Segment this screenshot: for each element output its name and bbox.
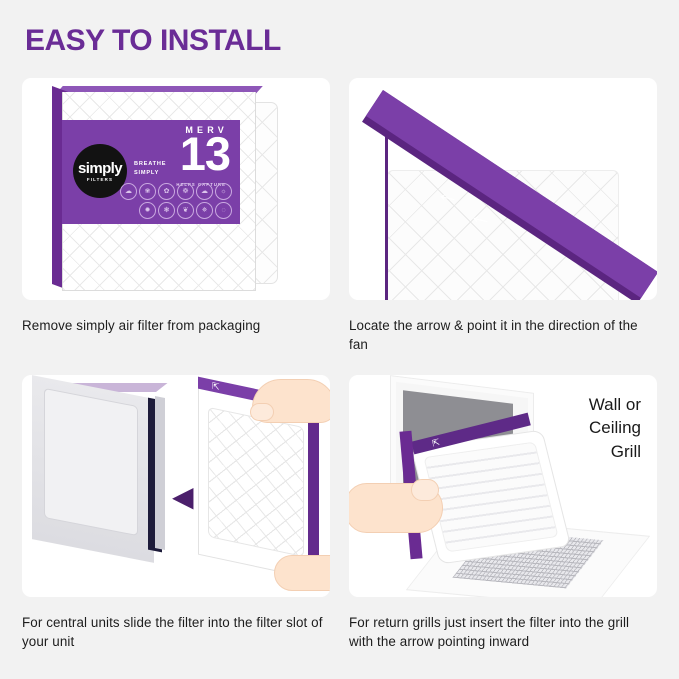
product-box-scene: simply FILTERS BREATHE SIMPLY MERV 13 HE…: [22, 78, 330, 300]
filter-mesh-texture: [208, 407, 304, 557]
pollen-icon: ❀: [139, 183, 156, 200]
unit-right-edge: [155, 396, 165, 550]
wall-ceiling-grill-label: Wall or Ceiling Grill: [589, 393, 641, 463]
central-unit-scene: ◀ ⇱: [22, 375, 330, 597]
step-card-1: simply FILTERS BREATHE SIMPLY MERV 13 HE…: [22, 78, 330, 335]
step-2-illustration: ↑ ↑: [349, 78, 657, 300]
slide-direction-arrow: ◀: [172, 483, 194, 511]
note-line-1: Wall or: [589, 393, 641, 416]
band-airflow-arrow-icon: ⇱: [212, 381, 219, 393]
return-grill-scene: ⇱ Wall or Ceiling Grill: [349, 375, 657, 597]
arrow-direction-scene: ↑ ↑: [349, 78, 657, 300]
thumb: [411, 479, 439, 501]
thumb-upper: [250, 403, 274, 421]
capture-icon-grid: ☁ ❀ ✿ ☸ ☁ ☼ ✹ ❃ ❦ ✵ ◌: [120, 181, 232, 219]
bacteria-icon: ☸: [177, 183, 194, 200]
note-line-3: Grill: [589, 440, 641, 463]
pet-dander-icon: ☼: [215, 183, 232, 200]
step-4-illustration: ⇱ Wall or Ceiling Grill: [349, 375, 657, 597]
brand-logo: simply FILTERS: [73, 144, 127, 198]
step-1-illustration: simply FILTERS BREATHE SIMPLY MERV 13 HE…: [22, 78, 330, 300]
hand-lower: [274, 555, 330, 591]
particle-icon: ◌: [215, 202, 232, 219]
grill-louvers: [423, 442, 558, 553]
page-title: EASY TO INSTALL: [25, 26, 281, 56]
logo-wordmark: simply: [78, 161, 122, 176]
band-airflow-arrow-icon: ⇱: [431, 437, 440, 449]
step-card-2: ↑ ↑ Locate the arrow & point it in the d…: [349, 78, 657, 354]
logo-subtext: FILTERS: [87, 177, 113, 182]
step-1-caption: Remove simply air filter from packaging: [22, 316, 330, 335]
step-2-caption: Locate the arrow & point it in the direc…: [349, 316, 657, 354]
filter-media-surface: [208, 407, 304, 557]
merv-rating-number: 13: [180, 130, 230, 177]
unit-front-recess: [44, 388, 138, 536]
smoke-icon: ☁: [196, 183, 213, 200]
box-tagline: BREATHE SIMPLY: [134, 160, 166, 177]
lint-icon: ✵: [196, 202, 213, 219]
allergen-icon: ❃: [158, 202, 175, 219]
filter-left-edge: [385, 114, 388, 300]
odor-icon: ❦: [177, 202, 194, 219]
capture-icon-row-2: ✹ ❃ ❦ ✵ ◌: [120, 202, 232, 219]
step-card-3: ◀ ⇱ For central units slide the filter i…: [22, 375, 330, 651]
tagline-line-1: BREATHE: [134, 160, 166, 169]
step-3-caption: For central units slide the filter into …: [22, 613, 330, 651]
box-purple-label: simply FILTERS BREATHE SIMPLY MERV 13 HE…: [62, 120, 240, 224]
dust-icon: ☁: [120, 183, 137, 200]
step-card-4: ⇱ Wall or Ceiling Grill For return grill…: [349, 375, 657, 651]
step-4-caption: For return grills just insert the filter…: [349, 613, 657, 651]
virus-icon: ✹: [139, 202, 156, 219]
note-line-2: Ceiling: [589, 416, 641, 439]
infographic-page: EASY TO INSTALL simply FILTERS: [0, 0, 679, 679]
mold-icon: ✿: [158, 183, 175, 200]
tagline-line-2: SIMPLY: [134, 169, 166, 178]
step-3-illustration: ◀ ⇱: [22, 375, 330, 597]
capture-icon-row-1: ☁ ❀ ✿ ☸ ☁ ☼: [120, 183, 232, 200]
